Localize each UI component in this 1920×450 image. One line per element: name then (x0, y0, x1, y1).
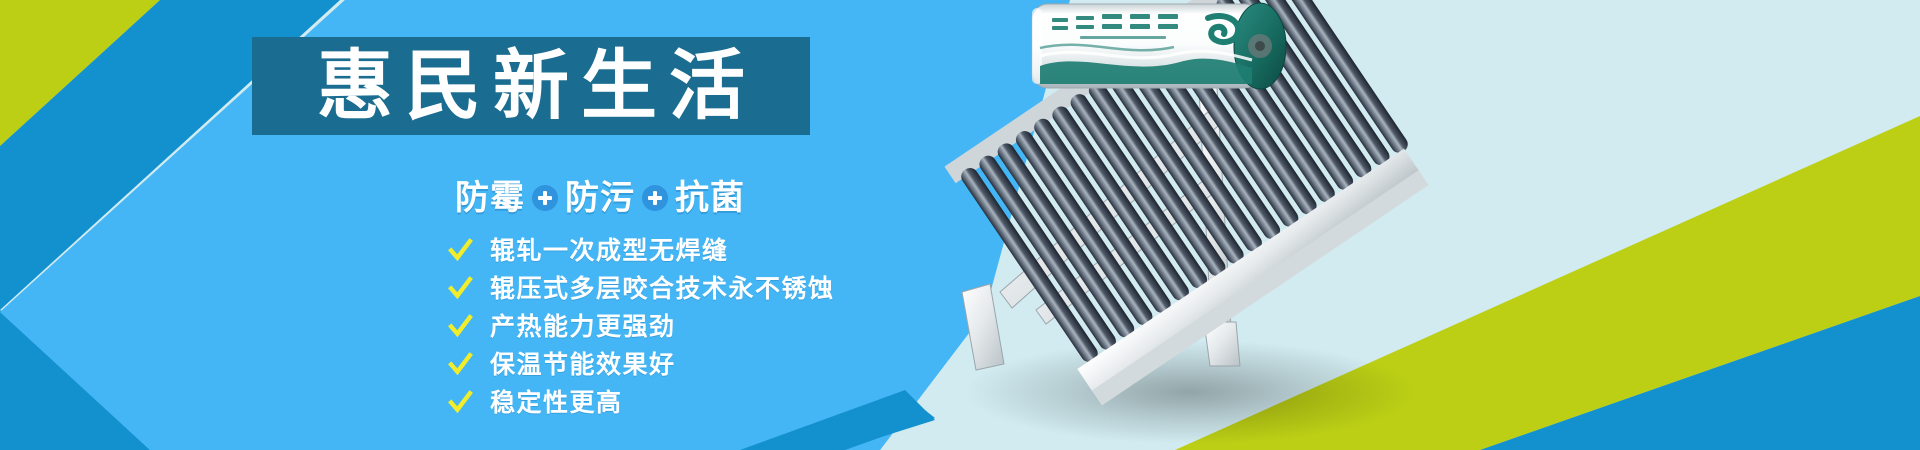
feature-label: 辊压式多层咬合技术永不锈蚀 (490, 276, 835, 301)
subtitle-word-2: 防污 (565, 181, 635, 215)
subtitle-word-1: 防霉 (455, 181, 525, 215)
plus-icon (642, 185, 668, 211)
page-title: 惠民新生活 (305, 48, 757, 124)
feature-label: 保温节能效果好 (490, 352, 676, 377)
list-item: 辊轧一次成型无焊缝 (448, 236, 835, 265)
subtitle-word-3: 抗菌 (675, 181, 745, 215)
check-icon (448, 390, 473, 415)
list-item: 保温节能效果好 (448, 350, 835, 379)
plus-icon (532, 185, 558, 211)
check-icon (448, 314, 473, 339)
promotional-banner: 惠民新生活 防霉 防污 抗菌 辊轧一次成型无焊缝 辊压式多层咬合技术永不锈蚀 产… (0, 0, 1920, 450)
list-item: 辊压式多层咬合技术永不锈蚀 (448, 274, 835, 303)
feature-label: 辊轧一次成型无焊缝 (490, 238, 729, 263)
check-icon (448, 238, 473, 263)
check-icon (448, 276, 473, 301)
list-item: 产热能力更强劲 (448, 312, 835, 341)
check-icon (448, 352, 473, 377)
feature-list: 辊轧一次成型无焊缝 辊压式多层咬合技术永不锈蚀 产热能力更强劲 保温节能效果好 (448, 236, 835, 417)
headline-box: 惠民新生活 (252, 37, 810, 135)
subtitle-row: 防霉 防污 抗菌 (455, 176, 745, 220)
list-item: 稳定性更高 (448, 388, 835, 417)
feature-label: 稳定性更高 (490, 390, 623, 415)
feature-label: 产热能力更强劲 (490, 314, 676, 339)
